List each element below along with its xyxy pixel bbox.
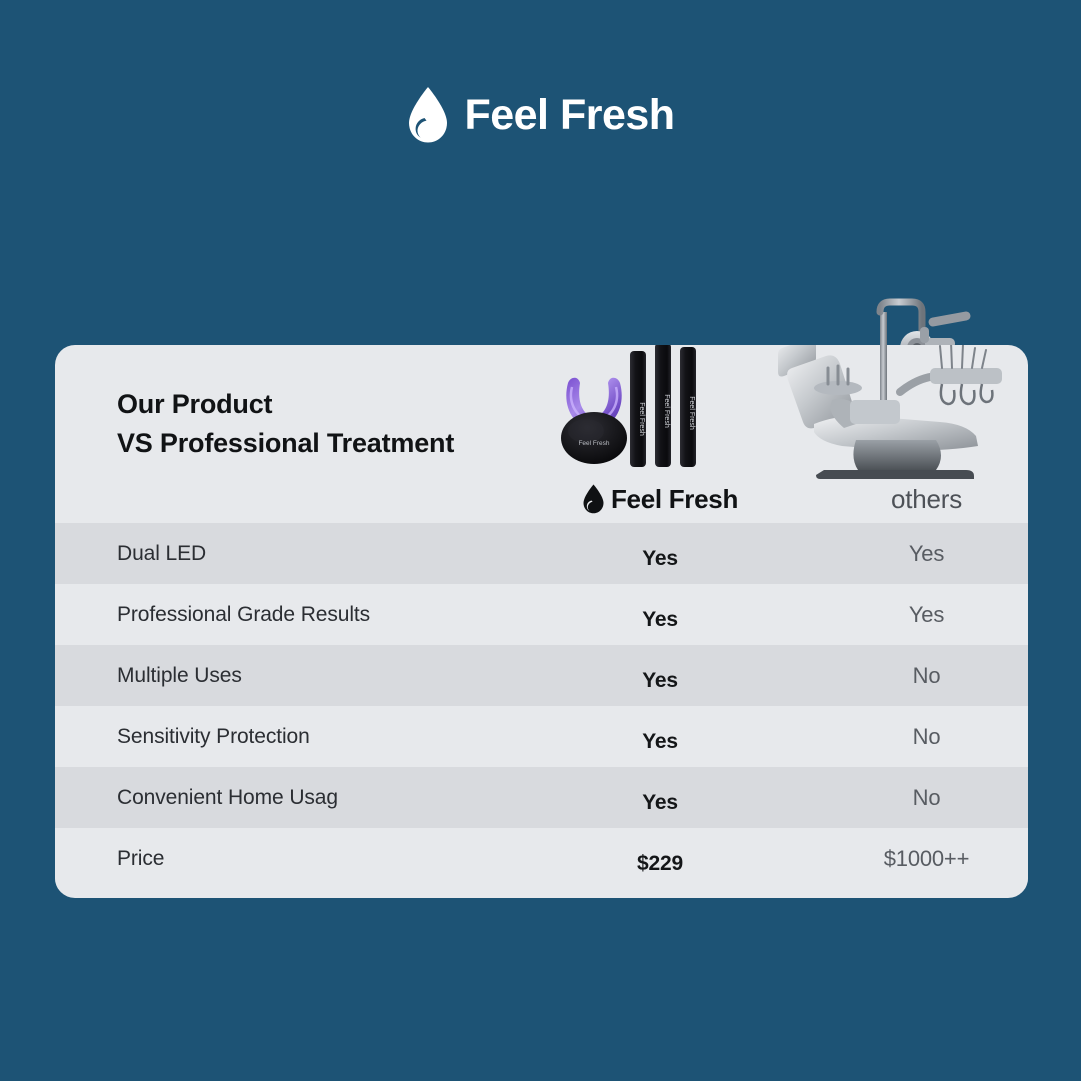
row-value-others: No xyxy=(770,724,1028,750)
row-value-others: No xyxy=(770,663,1028,689)
card-title-line1: Our Product xyxy=(117,385,454,424)
table-row: Professional Grade Results Yes Yes xyxy=(55,584,1028,645)
row-value-others: No xyxy=(770,785,1028,811)
product-kit-image: Feel Fresh Feel Fresh Feel Fresh Feel Fr… xyxy=(552,345,752,475)
water-drop-icon xyxy=(406,86,450,144)
column-header-others-label: others xyxy=(891,484,962,515)
dental-chair-image xyxy=(770,345,1020,480)
column-header-others: others xyxy=(770,477,1028,521)
card-title-line2: VS Professional Treatment xyxy=(117,424,454,463)
row-value-others: Yes xyxy=(770,602,1028,628)
table-row: Dual LED Yes Yes xyxy=(55,523,1028,584)
row-feature-label: Price xyxy=(117,847,164,871)
column-header-ours-label: Feel Fresh xyxy=(611,484,738,515)
svg-text:Feel Fresh: Feel Fresh xyxy=(578,440,609,447)
row-feature-label: Convenient Home Usag xyxy=(117,786,338,810)
table-row: Convenient Home Usag Yes No xyxy=(55,767,1028,828)
brand-name: Feel Fresh xyxy=(464,94,674,137)
row-feature-label: Professional Grade Results xyxy=(117,603,370,627)
svg-text:Feel Fresh: Feel Fresh xyxy=(688,396,695,430)
comparison-card: Our Product VS Professional Treatment xyxy=(55,345,1028,898)
row-feature-label: Sensitivity Protection xyxy=(117,725,310,749)
row-value-others: Yes xyxy=(770,541,1028,567)
comparison-rows: Dual LED Yes Yes Professional Grade Resu… xyxy=(55,523,1028,889)
water-drop-icon xyxy=(582,484,605,514)
row-feature-label: Multiple Uses xyxy=(117,664,242,688)
brand-header: Feel Fresh xyxy=(0,82,1081,148)
table-row: Multiple Uses Yes No xyxy=(55,645,1028,706)
row-feature-label: Dual LED xyxy=(117,542,206,566)
svg-text:Feel Fresh: Feel Fresh xyxy=(663,394,670,428)
card-title: Our Product VS Professional Treatment xyxy=(117,385,454,463)
svg-text:Feel Fresh: Feel Fresh xyxy=(638,402,645,436)
row-value-others: $1000++ xyxy=(770,846,1028,872)
table-row: Price $229 $1000++ xyxy=(55,828,1028,889)
table-row: Sensitivity Protection Yes No xyxy=(55,706,1028,767)
